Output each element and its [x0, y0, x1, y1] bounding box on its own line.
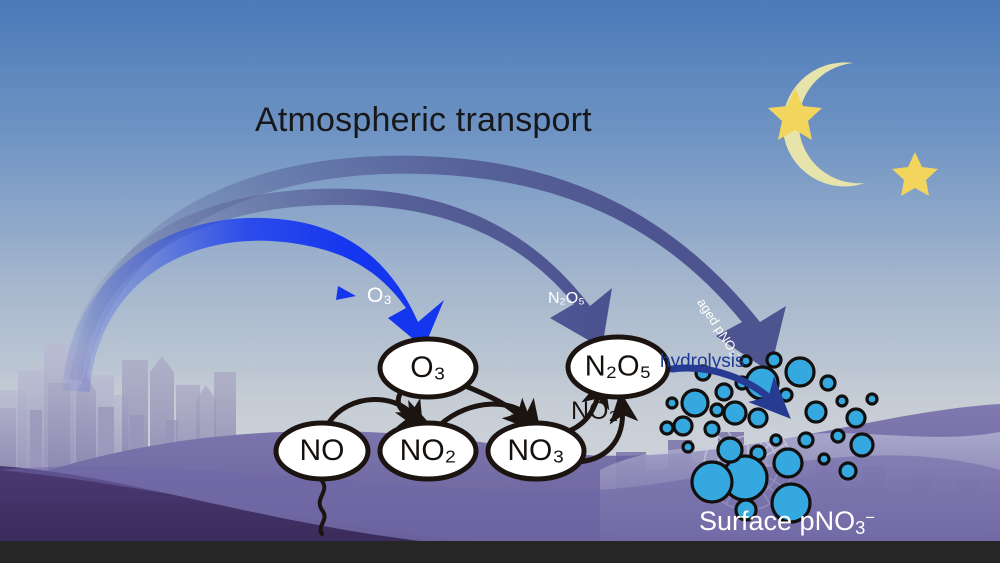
surface-pno3-superscript: − — [865, 508, 875, 527]
reaction-network-layer — [0, 0, 1000, 563]
node-label-no3: NO₃ — [507, 434, 564, 468]
hydrolysis-arrow — [672, 368, 776, 404]
surface-pno3-label: Surface pNO3− — [699, 508, 875, 537]
node-label-no: NO — [300, 434, 345, 468]
emission-squiggle — [320, 481, 325, 534]
node-label-n2o5: N₂O₅ — [585, 351, 651, 384]
bottom-bar — [0, 541, 1000, 563]
node-label-no2: NO₂ — [400, 434, 457, 468]
node-label-o3: O₃ — [410, 351, 446, 385]
atmospheric-nitrogen-chemistry-diagram: O₃ N₂O₅ aged pNO₃⁻ — [0, 0, 1000, 563]
reaction-label-no2-recycle: NO₂ — [571, 399, 618, 424]
reaction-label-hydrolysis: hydrolysis — [660, 352, 744, 371]
surface-pno3-subscript: 3 — [855, 517, 865, 538]
page-title: Atmospheric transport — [255, 103, 592, 137]
